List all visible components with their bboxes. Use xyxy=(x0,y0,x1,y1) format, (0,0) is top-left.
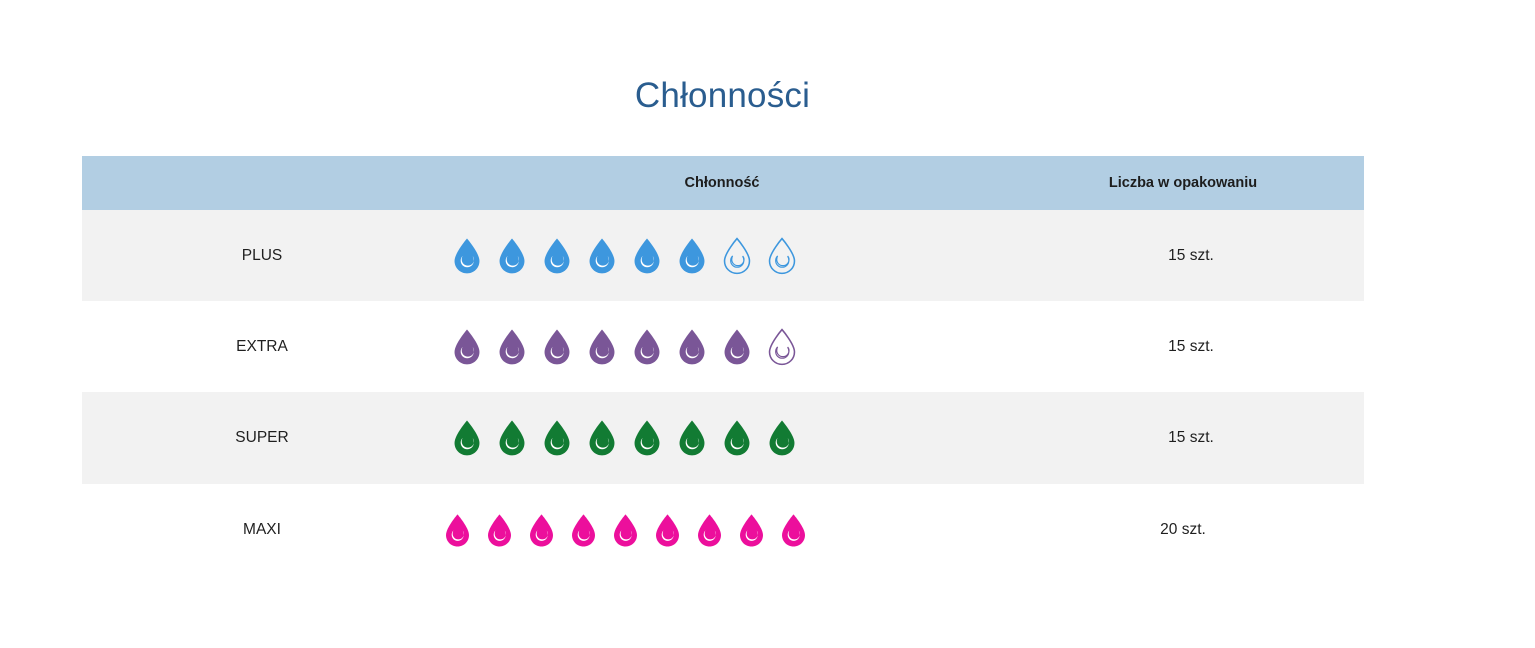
table-header-row: Chłonność Liczba w opakowaniu xyxy=(82,156,1364,210)
absorbency-drops xyxy=(442,513,1002,548)
droplet-filled-icon xyxy=(736,513,767,548)
droplet-filled-icon xyxy=(484,513,515,548)
droplet-filled-icon xyxy=(778,513,809,548)
table-row: EXTRA 15 szt. xyxy=(82,301,1364,392)
droplet-filled-icon xyxy=(450,237,484,275)
droplet-filled-icon xyxy=(675,419,709,457)
droplet-filled-icon xyxy=(442,513,473,548)
droplet-filled-icon xyxy=(720,419,754,457)
droplet-filled-icon xyxy=(694,513,725,548)
droplet-filled-icon xyxy=(540,328,574,366)
absorbency-drops xyxy=(442,328,1010,366)
droplet-filled-icon xyxy=(495,328,529,366)
droplet-filled-icon xyxy=(495,237,529,275)
droplet-filled-icon xyxy=(765,419,799,457)
droplet-filled-icon xyxy=(526,513,557,548)
absorbency-drops xyxy=(442,419,1010,457)
droplet-outline-icon xyxy=(765,328,799,366)
droplet-filled-icon xyxy=(630,419,664,457)
table-row: SUPER 15 szt. xyxy=(82,392,1364,484)
droplet-filled-icon xyxy=(540,237,574,275)
column-header-absorbency: Chłonność xyxy=(442,175,1002,191)
droplet-filled-icon xyxy=(495,419,529,457)
absorbency-table-page: Chłonności Chłonność Liczba w opakowaniu… xyxy=(0,0,1535,648)
droplet-filled-icon xyxy=(630,237,664,275)
row-label: SUPER xyxy=(82,429,442,447)
droplet-outline-icon xyxy=(720,237,754,275)
row-label: MAXI xyxy=(82,521,442,539)
droplet-filled-icon xyxy=(675,328,709,366)
table-row: MAXI 20 szt. xyxy=(82,484,1364,576)
row-label: PLUS xyxy=(82,247,442,265)
droplet-filled-icon xyxy=(720,328,754,366)
droplet-outline-icon xyxy=(765,237,799,275)
column-header-count: Liczba w opakowaniu xyxy=(1002,175,1364,191)
page-title: Chłonności xyxy=(0,74,1445,118)
droplet-filled-icon xyxy=(568,513,599,548)
droplet-filled-icon xyxy=(450,419,484,457)
droplet-filled-icon xyxy=(610,513,641,548)
row-count: 15 szt. xyxy=(1010,338,1372,356)
droplet-filled-icon xyxy=(585,237,619,275)
droplet-filled-icon xyxy=(585,328,619,366)
droplet-filled-icon xyxy=(630,328,664,366)
droplet-filled-icon xyxy=(585,419,619,457)
droplet-filled-icon xyxy=(450,328,484,366)
table-row: PLUS 15 szt. xyxy=(82,210,1364,301)
absorbency-table: Chłonność Liczba w opakowaniu PLUS 15 sz… xyxy=(82,156,1364,576)
absorbency-drops xyxy=(442,237,1010,275)
row-count: 15 szt. xyxy=(1010,429,1372,447)
droplet-filled-icon xyxy=(652,513,683,548)
row-label: EXTRA xyxy=(82,338,442,356)
row-count: 20 szt. xyxy=(1002,521,1364,539)
row-count: 15 szt. xyxy=(1010,247,1372,265)
droplet-filled-icon xyxy=(675,237,709,275)
droplet-filled-icon xyxy=(540,419,574,457)
